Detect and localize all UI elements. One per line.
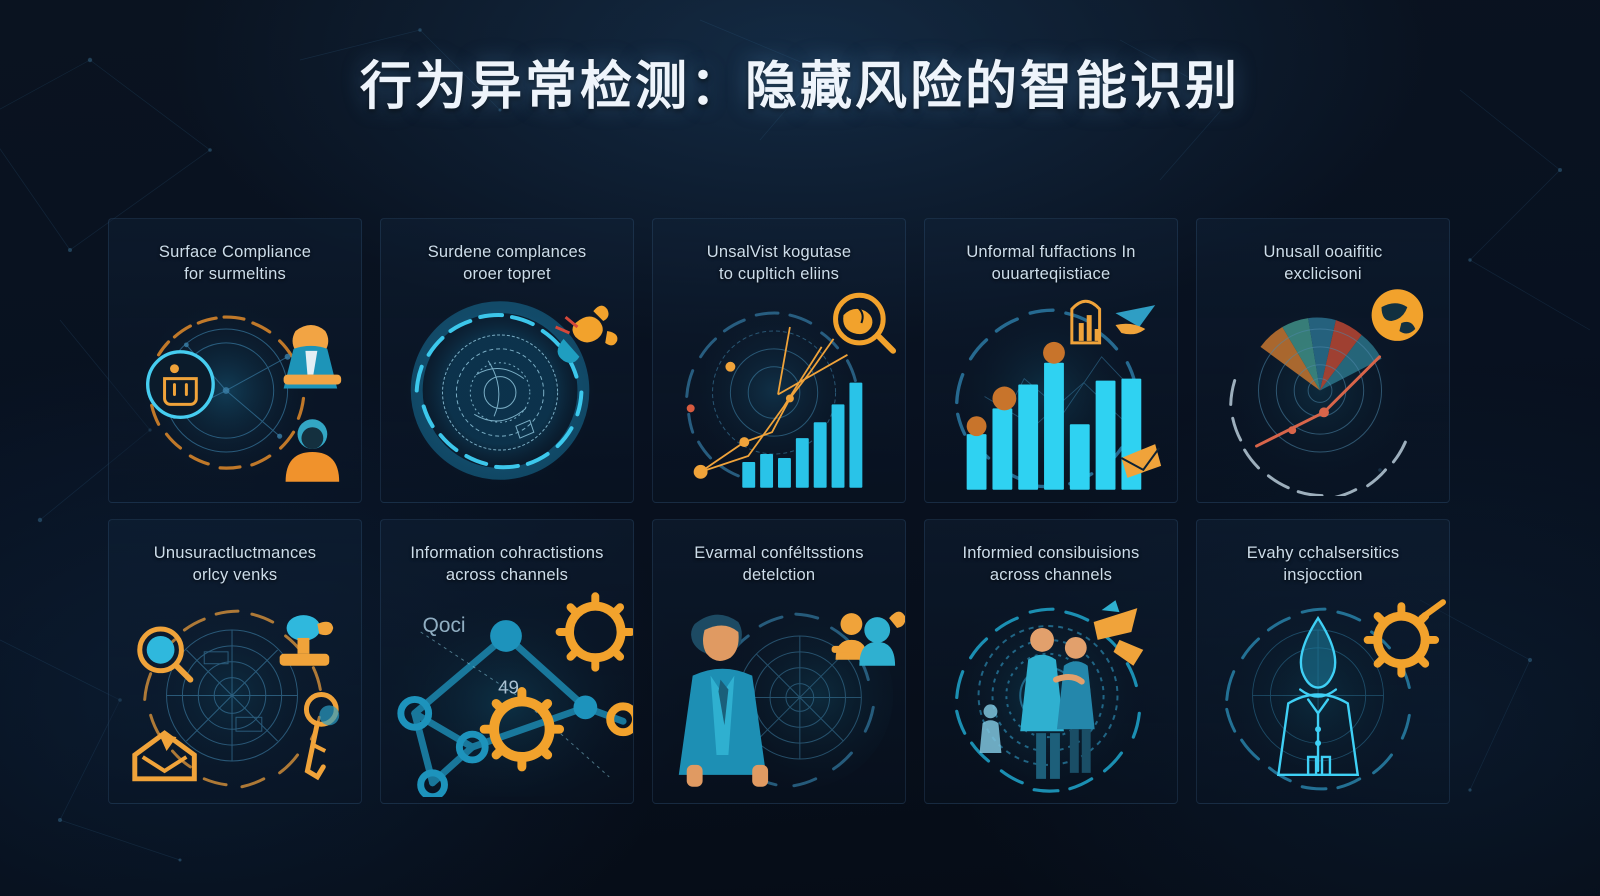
card-title: Unusuractluctmances orlcy venks (125, 542, 345, 586)
globe-icon (1372, 289, 1424, 341)
paper-plane-icon (1115, 305, 1155, 334)
card-illustration (653, 287, 905, 496)
card-surface-compliance[interactable]: Surface Compliance for surmeltins (108, 218, 362, 503)
card-illustration (925, 588, 1177, 797)
slide-canvas: 行为异常检测：隐藏风险的智能识别 Surface Compliance for … (0, 0, 1600, 896)
card-title: Informied consibuisions across channels (941, 542, 1161, 586)
card-unusall-ooaifitic[interactable]: Unusall ooaifitic exclicisoni (1196, 218, 1450, 503)
graph-label-qoci: Qoci (423, 614, 466, 637)
card-title: Information cohractistions across channe… (397, 542, 617, 586)
card-illustration (1197, 287, 1449, 496)
card-title: Evarmal conféltsstions detelction (669, 542, 889, 586)
card-title: UnsalVist kogutase to cupltich eliins (669, 241, 889, 285)
card-evarmal-confeltsstions[interactable]: Evarmal conféltsstions detelction (652, 519, 906, 804)
card-title: Unformal fuffactions In ouuarteqiistiace (941, 241, 1161, 285)
page-title: 行为异常检测：隐藏风险的智能识别 (0, 44, 1600, 119)
card-illustration (109, 287, 361, 496)
card-illustration: Qoci 49 (381, 588, 633, 797)
card-title: Evahy cchalsersitics insjocction (1213, 542, 1433, 586)
card-unformal-fuffactions[interactable]: Unformal fuffactions In ouuarteqiistiace (924, 218, 1178, 503)
card-title: Surface Compliance for surmeltins (125, 241, 345, 285)
gear-icon (1368, 602, 1443, 673)
card-unusuractluctmances[interactable]: Unusuractluctmances orlcy venks (108, 519, 362, 804)
card-evahy-cchalsersitics[interactable]: Evahy cchalsersitics insjocction (1196, 519, 1450, 804)
card-illustration (381, 287, 633, 496)
card-illustration (925, 287, 1177, 496)
card-illustration (109, 588, 361, 797)
graph-label-49: 49 (498, 676, 519, 697)
card-unsalvist-kogutase[interactable]: UnsalVist kogutase to cupltich eliins (652, 218, 906, 503)
card-illustration (653, 588, 905, 797)
card-title: Unusall ooaifitic exclicisoni (1213, 241, 1433, 285)
card-surdene-complances[interactable]: Surdene complances oroer topret (380, 218, 634, 503)
card-informied-consibuisions[interactable]: Informied consibuisions across channels (924, 519, 1178, 804)
card-title: Surdene complances oroer topret (397, 241, 617, 285)
card-grid: Surface Compliance for surmeltins (108, 218, 1493, 804)
card-information-cohractistions[interactable]: Information cohractistions across channe… (380, 519, 634, 804)
card-illustration (1197, 588, 1449, 797)
